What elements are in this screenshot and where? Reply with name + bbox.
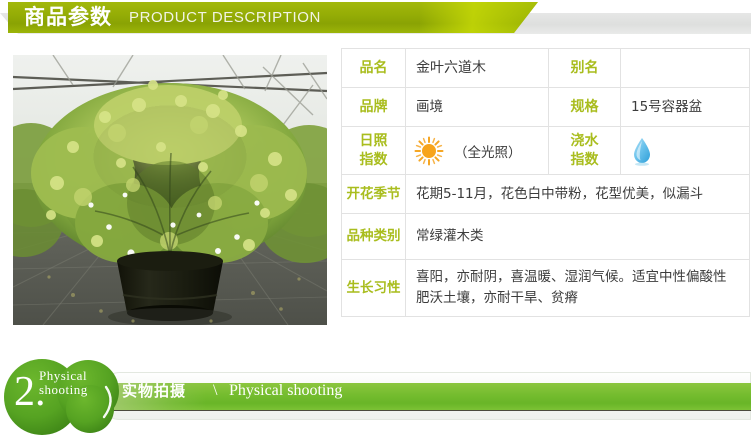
spec-value-variety-type: 常绿灌木类 bbox=[406, 214, 750, 260]
spec-label-growth-habit: 生长习性 bbox=[342, 260, 406, 317]
page-title-en: PRODUCT DESCRIPTION bbox=[129, 7, 321, 29]
table-row: 品名 金叶六道木 别名 bbox=[342, 49, 750, 88]
spec-value-sunlight: （全光照） bbox=[406, 127, 549, 175]
spec-value-bloom-season: 花期5-11月，花色白中带粉，花型优美，似漏斗 bbox=[406, 175, 750, 214]
table-row: 生长习性 喜阳，亦耐阴，喜温暖、湿润气候。适宜中性偏酸性肥沃土壤，亦耐干旱、贫瘠 bbox=[342, 260, 750, 317]
table-row: 开花季节 花期5-11月，花色白中带粉，花型优美，似漏斗 bbox=[342, 175, 750, 214]
spec-label-sunlight: 日照 指数 bbox=[342, 127, 406, 175]
page-header-banner: 商品参数 PRODUCT DESCRIPTION bbox=[0, 0, 751, 46]
spec-value-name: 金叶六道木 bbox=[406, 49, 549, 88]
spec-value-spec: 15号容器盆 bbox=[621, 88, 750, 127]
spec-label-sunlight-line2: 指数 bbox=[342, 151, 405, 170]
section-title-cn: 实物拍摄 bbox=[122, 381, 186, 402]
product-spec-table: 品名 金叶六道木 别名 品牌 画境 规格 15号容器盆 日照 指数 bbox=[341, 48, 750, 317]
product-photo-image bbox=[13, 55, 327, 325]
table-row: 品种类别 常绿灌木类 bbox=[342, 214, 750, 260]
spec-label-variety-type: 品种类别 bbox=[342, 214, 406, 260]
spec-label-spec: 规格 bbox=[549, 88, 621, 127]
section-banner-physical-shooting bbox=[0, 357, 751, 437]
spec-value-growth-habit: 喜阳，亦耐阴，喜温暖、湿润气候。适宜中性偏酸性肥沃土壤，亦耐干旱、贫瘠 bbox=[406, 260, 750, 317]
water-drop-icon bbox=[631, 136, 653, 166]
sun-icon bbox=[414, 136, 444, 166]
section-badge-en-line1: Physical bbox=[39, 369, 87, 383]
spec-label-bloom-season: 开花季节 bbox=[342, 175, 406, 214]
spec-value-brand: 画境 bbox=[406, 88, 549, 127]
section-title-separator: \ bbox=[213, 380, 217, 402]
spec-label-brand: 品牌 bbox=[342, 88, 406, 127]
table-row: 日照 指数 bbox=[342, 127, 750, 175]
spec-label-watering: 浇水 指数 bbox=[549, 127, 621, 175]
spec-value-sunlight-label: （全光照） bbox=[454, 141, 522, 161]
spec-value-watering bbox=[621, 127, 750, 175]
spec-label-sunlight-line1: 日照 bbox=[342, 132, 405, 151]
table-row: 品牌 画境 规格 15号容器盆 bbox=[342, 88, 750, 127]
section-title-en: Physical shooting bbox=[229, 380, 342, 402]
spec-value-alias bbox=[621, 49, 750, 88]
spec-label-watering-line1: 浇水 bbox=[549, 132, 620, 151]
product-photo bbox=[13, 55, 327, 325]
spec-label-name: 品名 bbox=[342, 49, 406, 88]
spec-label-watering-line2: 指数 bbox=[549, 151, 620, 170]
page-title-cn: 商品参数 bbox=[24, 3, 112, 32]
spec-label-alias: 别名 bbox=[549, 49, 621, 88]
section-badge-en-line2: shooting bbox=[39, 383, 88, 397]
